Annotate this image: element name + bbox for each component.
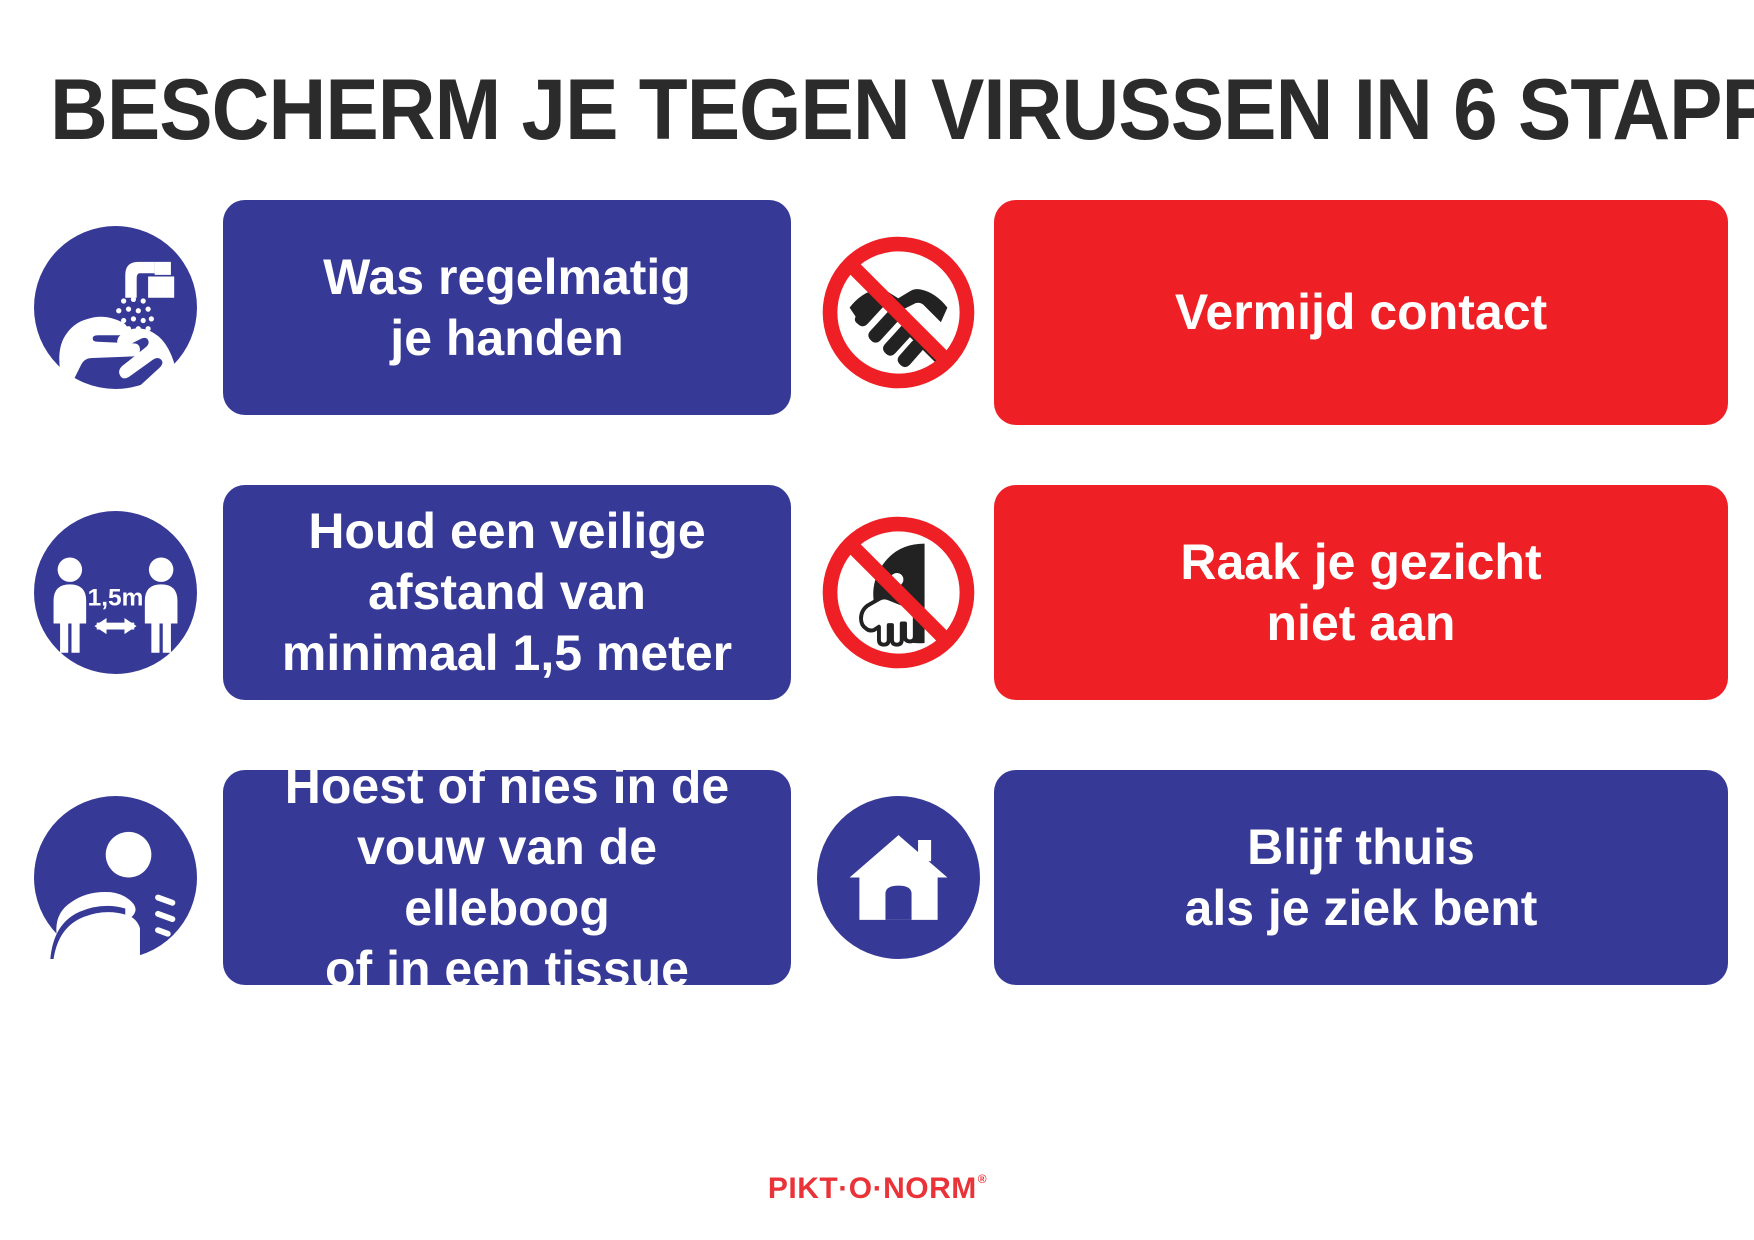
step-label-2: Vermijd contact	[994, 200, 1728, 425]
page-title: BESCHERM JE TEGEN VIRUSSEN IN 6 STAPPEN	[50, 62, 1594, 158]
step-text-1: Was regelmatig je handen	[323, 247, 691, 369]
distance-label: 1,5m	[88, 585, 144, 612]
steps-grid: Was regelmatig je handen	[0, 200, 1754, 1055]
steps-row-2: 1,5m Houd een veilige afstand van minima…	[0, 485, 1754, 710]
wash-hands-icon	[34, 226, 197, 389]
step-label-1: Was regelmatig je handen	[223, 200, 791, 415]
stay-home-icon	[817, 796, 980, 959]
step-text-2: Vermijd contact	[1175, 282, 1547, 343]
poster-root: BESCHERM JE TEGEN VIRUSSEN IN 6 STAPPEN	[0, 0, 1754, 1240]
step-card-5: Hoest of nies in de vouw van de elleboog…	[0, 770, 805, 985]
step-text-6: Blijf thuis als je ziek bent	[1185, 817, 1538, 939]
step-card-4: Raak je gezicht niet aan	[805, 485, 1754, 700]
no-handshake-icon	[817, 231, 980, 394]
piktonorm-logo: PIKT·O·NORM®	[768, 1172, 986, 1206]
step-text-4: Raak je gezicht niet aan	[1180, 532, 1541, 654]
steps-row-3: Hoest of nies in de vouw van de elleboog…	[0, 770, 1754, 995]
step-card-2: Vermijd contact	[805, 200, 1754, 425]
cough-into-elbow-icon	[34, 796, 197, 959]
step-card-6: Blijf thuis als je ziek bent	[805, 770, 1754, 985]
step-label-5: Hoest of nies in de vouw van de elleboog…	[223, 770, 791, 985]
trademark-symbol: ®	[978, 1172, 987, 1186]
step-label-4: Raak je gezicht niet aan	[994, 485, 1728, 700]
step-card-1: Was regelmatig je handen	[0, 200, 805, 415]
step-card-3: 1,5m Houd een veilige afstand van minima…	[0, 485, 805, 700]
step-text-3: Houd een veilige afstand van minimaal 1,…	[282, 501, 732, 684]
step-label-6: Blijf thuis als je ziek bent	[994, 770, 1728, 985]
no-touch-face-icon	[817, 511, 980, 674]
step-label-3: Houd een veilige afstand van minimaal 1,…	[223, 485, 791, 700]
step-text-5: Hoest of nies in de vouw van de elleboog…	[249, 756, 765, 1000]
logo-text: PIKT·O·NORM	[768, 1172, 977, 1205]
safe-distance-icon: 1,5m	[34, 511, 197, 674]
steps-row-1: Was regelmatig je handen	[0, 200, 1754, 425]
footer: PIKT·O·NORM®	[0, 1172, 1754, 1206]
